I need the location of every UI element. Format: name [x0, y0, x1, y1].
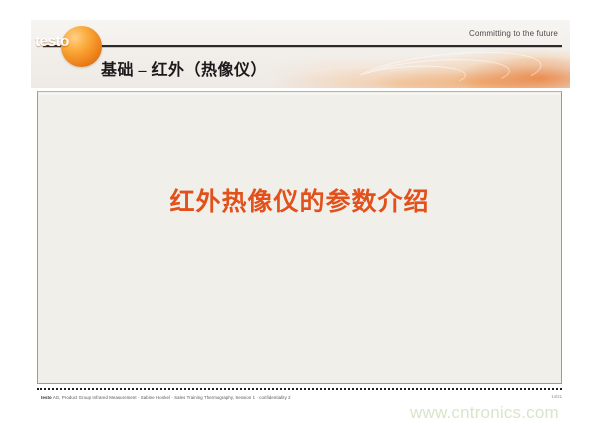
header-divider-shadow	[43, 47, 562, 48]
swirl-arc-3	[353, 63, 466, 88]
presentation-slide: testo Committing to the future 基础 – 红外（热…	[31, 20, 570, 408]
footer-credit-text: AG, Product Group Infrared Measurement ·…	[53, 395, 291, 400]
footer-company-name: testo	[41, 395, 52, 400]
slide-title: 基础 – 红外（热像仪）	[101, 56, 267, 80]
slide-header: testo Committing to the future 基础 – 红外（热…	[31, 20, 570, 88]
content-top-highlight	[39, 93, 560, 95]
footer-page-marker: 14/21	[551, 394, 562, 399]
slide-content-area: 红外热像仪的参数介绍	[37, 91, 562, 384]
content-headline: 红外热像仪的参数介绍	[38, 182, 561, 218]
header-tagline: Committing to the future	[469, 29, 558, 38]
footer-divider	[37, 388, 562, 390]
testo-logo-label: testo	[31, 33, 85, 50]
footer-credit: testo AG, Product Group Infrared Measure…	[41, 395, 291, 400]
site-watermark: www.cntronics.com	[410, 403, 559, 423]
